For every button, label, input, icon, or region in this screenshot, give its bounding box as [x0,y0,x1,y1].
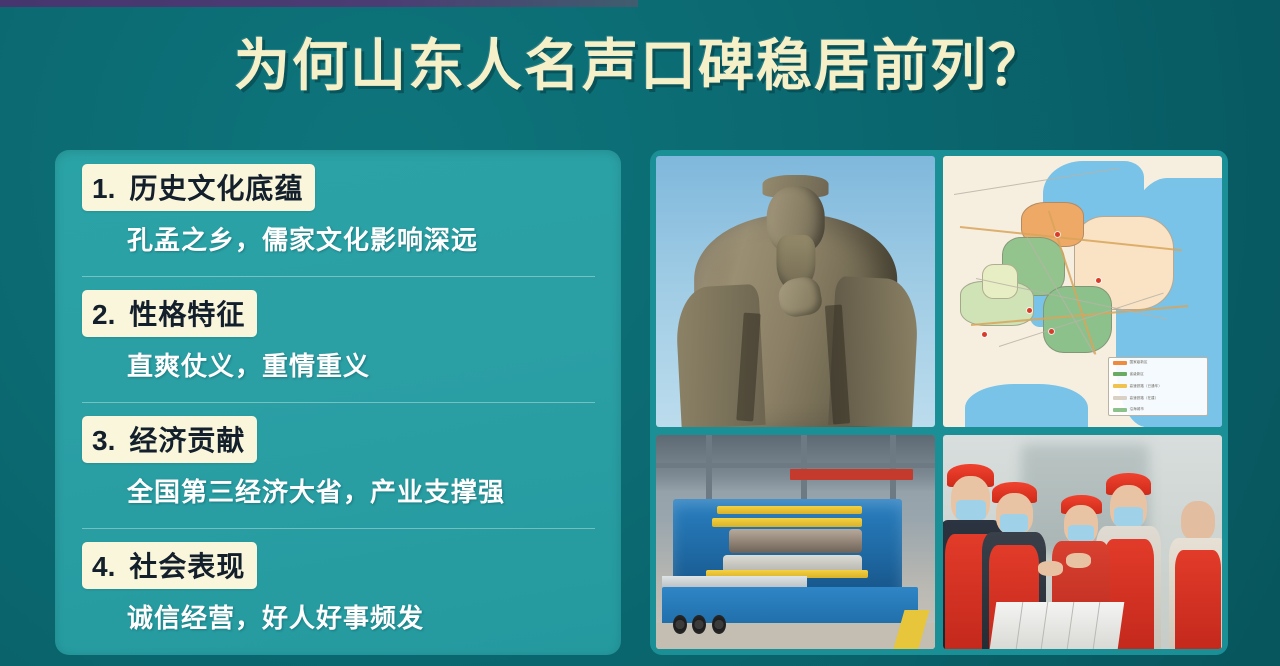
reasons-list-card: 1.历史文化底蕴 孔孟之乡，儒家文化影响深远 2.性格特征 直爽仗义，重情重义 … [55,150,621,655]
list-item-heading: 1.历史文化底蕴 [82,164,315,211]
conveyor-wheel [673,615,687,634]
machine-yellow-rail [712,518,863,527]
list-item-subtitle: 直爽仗义，重情重义 [127,346,595,383]
list-item-heading: 4.社会表现 [82,542,257,589]
list-item-title: 社会表现 [129,551,245,582]
face-mask [1114,507,1142,526]
map-city-marker [1055,232,1060,237]
list-item-number: 2. [92,299,115,330]
machine-yellow-rail [717,506,862,515]
volunteer-person [1169,495,1222,649]
list-item[interactable]: 3.经济贡献 全国第三经济大省，产业支撑强 [55,402,621,528]
legend-label: 高速铁路（已通车） [1130,385,1162,388]
list-item-subtitle: 全国第三经济大省，产业支撑强 [127,472,595,509]
list-item-title: 历史文化底蕴 [129,173,303,204]
confucius-statue-photo [656,156,935,427]
legend-swatch [1113,384,1127,388]
face-mask [1068,525,1094,541]
legend-swatch [1113,408,1127,412]
map-southern-water [965,384,1088,427]
legend-label: 省级新区 [1130,373,1144,376]
map-city-marker [1027,308,1032,313]
supply-boxes [990,602,1125,649]
list-item-title: 性格特征 [129,299,245,330]
legend-row: 高速铁路（已通车） [1113,384,1203,388]
legend-row: 省级新区 [1113,372,1203,376]
box-edge [1093,602,1101,649]
legend-label: 国家级新区 [1130,361,1148,364]
legend-row: 沿海城市 [1113,408,1203,412]
hand [1066,553,1091,568]
page-title: 为何山东人名声口碑稳居前列？ [234,34,1046,98]
map-region-pale [982,264,1017,299]
box-edge [1041,602,1049,649]
list-item-number: 4. [92,551,115,582]
legend-swatch [1113,372,1127,376]
list-item[interactable]: 4.社会表现 诚信经营，好人好事频发 [55,528,621,654]
hand [1038,561,1063,576]
legend-swatch [1113,361,1127,365]
list-item-heading: 3.经济贡献 [82,416,257,463]
face-mask [1000,514,1028,532]
legend-swatch [1113,396,1127,400]
factory-column [801,435,807,499]
factory-column [706,435,712,508]
poster-root: 为何山东人名声口碑稳居前列？ 1.历史文化底蕴 孔孟之乡，儒家文化影响深远 2.… [0,0,1280,666]
box-edge [1016,602,1024,649]
machine-roller [729,529,863,553]
legend-label: 高速铁路（在建） [1130,397,1159,400]
photo-grid: 国家级新区 省级新区 高速铁路（已通车） 高速铁路（在建） 沿海城市 [650,150,1228,655]
conveyor-wheel [712,615,726,634]
legend-row: 国家级新区 [1113,361,1203,365]
factory-production-line-photo [656,435,935,649]
list-item-number: 1. [92,173,115,204]
list-item-number: 3. [92,425,115,456]
list-item-subtitle: 孔孟之乡，儒家文化影响深远 [127,220,595,257]
shandong-map-photo: 国家级新区 省级新区 高速铁路（已通车） 高速铁路（在建） 沿海城市 [943,156,1222,427]
map-legend: 国家级新区 省级新区 高速铁路（已通车） 高速铁路（在建） 沿海城市 [1108,357,1208,417]
list-item-title: 经济贡献 [129,425,245,456]
legend-row: 高速铁路（在建） [1113,396,1203,400]
box-edge [1067,602,1075,649]
list-item-heading: 2.性格特征 [82,290,257,337]
legend-label: 沿海城市 [1130,408,1144,411]
list-item-subtitle: 诚信经营，好人好事频发 [127,598,595,635]
list-item[interactable]: 2.性格特征 直爽仗义，重情重义 [55,276,621,402]
factory-banner [790,469,913,480]
page-title-wrap: 为何山东人名声口碑稳居前列？ [0,34,1280,98]
volunteers-photo [943,435,1222,649]
list-item[interactable]: 1.历史文化底蕴 孔孟之乡，儒家文化影响深远 [55,150,621,276]
top-accent-strip [0,0,638,7]
red-volunteer-vest [1175,550,1221,649]
face [1181,501,1215,541]
